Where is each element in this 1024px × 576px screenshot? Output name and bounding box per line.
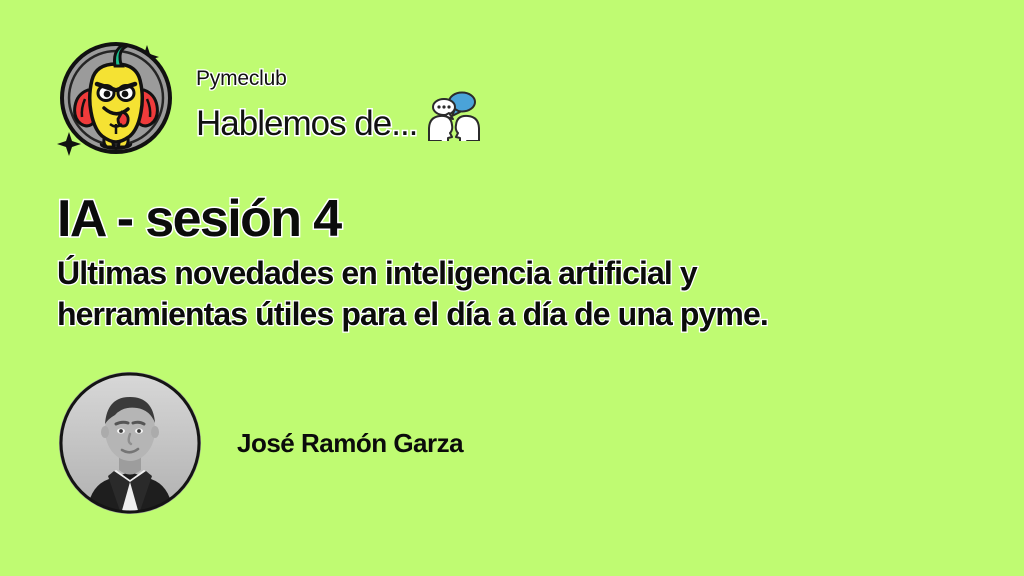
subtitle-line-1: Últimas novedades en inteligencia artifi… [57, 253, 957, 294]
brand-header: Pymeclub Hablemos de... [52, 36, 483, 164]
brand-tagline: Hablemos de... [196, 105, 417, 144]
brand-text-group: Pymeclub Hablemos de... [196, 57, 483, 143]
subtitle-line-2: herramientas útiles para el día a día de… [57, 294, 957, 335]
speaker-name: José Ramón Garza [231, 428, 463, 459]
speaker-block: José Ramón Garza [59, 372, 463, 514]
presentation-slide: Pymeclub Hablemos de... [0, 0, 1024, 576]
pepper-mascot-logo [52, 36, 180, 164]
page-title: IA - sesión 4 [57, 192, 977, 247]
brand-tagline-row: Hablemos de... [196, 91, 483, 143]
brand-name: Pymeclub [196, 67, 483, 91]
page-subtitle: Últimas novedades en inteligencia artifi… [57, 253, 957, 335]
title-block: IA - sesión 4 Últimas novedades en intel… [57, 192, 977, 335]
two-heads-speech-bubble-icon [425, 91, 483, 141]
avatar [59, 372, 201, 514]
